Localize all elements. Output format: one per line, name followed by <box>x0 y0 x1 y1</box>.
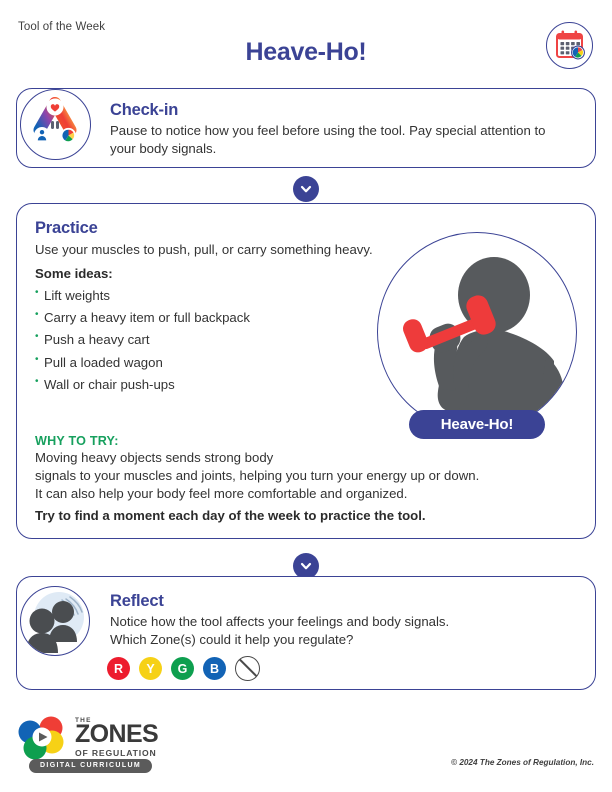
reflect-body-line-2: Which Zone(s) could it help you regulate… <box>110 631 560 649</box>
chevron-down-glyph-1 <box>299 182 313 196</box>
chevron-down-glyph-2 <box>299 559 313 573</box>
illustration-label: Heave-Ho! <box>409 410 545 439</box>
checkin-text-block: Check-in Pause to notice how you feel be… <box>110 101 565 157</box>
copyright-text: © 2024 The Zones of Regulation, Inc. <box>300 758 594 767</box>
no-zone-icon[interactable] <box>235 656 260 681</box>
yellow-zone-letter: Y <box>146 662 154 676</box>
list-item: Wall or chair push-ups <box>35 373 375 395</box>
practice-heading: Practice <box>35 219 375 238</box>
two-people-icon-glyph <box>21 587 88 654</box>
why-to-try-line-3: It can also help your body feel more com… <box>35 485 565 502</box>
yellow-zone-badge[interactable]: Y <box>139 657 162 680</box>
reflect-heading: Reflect <box>110 592 560 611</box>
practice-closing-line: Try to find a moment each day of the wee… <box>35 508 575 523</box>
practice-lead: Use your muscles to push, pull, or carry… <box>35 241 375 259</box>
reflect-body-line-1: Notice how the tool affects your feeling… <box>110 613 560 631</box>
tool-of-the-week-page: Tool of the Week Heave-Ho! <box>0 0 612 792</box>
green-zone-letter: G <box>178 662 188 676</box>
zones-logo: THE ZONES OF REGULATION DIGITAL CURRICUL… <box>18 714 233 772</box>
zones-triangle-icon-glyph <box>21 90 89 158</box>
two-people-icon <box>20 586 90 656</box>
ideas-list: Lift weights Carry a heavy item or full … <box>35 285 375 396</box>
zones-flower-logo-icon <box>18 716 70 760</box>
blue-zone-letter: B <box>210 662 219 676</box>
some-ideas-label: Some ideas: <box>35 266 375 281</box>
green-zone-badge[interactable]: G <box>171 657 194 680</box>
checkin-body: Pause to notice how you feel before usin… <box>110 122 565 157</box>
logo-of-regulation: OF REGULATION <box>75 748 158 758</box>
person-lifting-dumbbell-icon <box>378 233 574 429</box>
practice-illustration: Heave-Ho! <box>377 232 577 432</box>
why-to-try-line-2: signals to your muscles and joints, help… <box>35 467 565 484</box>
calendar-icon <box>546 22 593 69</box>
illustration-circle <box>377 232 577 432</box>
blue-zone-badge[interactable]: B <box>203 657 226 680</box>
calendar-icon-glyph <box>547 23 592 68</box>
list-item: Carry a heavy item or full backpack <box>35 307 375 329</box>
list-item: Push a heavy cart <box>35 329 375 351</box>
why-to-try-block: WHY TO TRY: Moving heavy objects sends s… <box>35 434 565 502</box>
digital-curriculum-badge: DIGITAL CURRICULUM <box>29 759 152 773</box>
practice-text-block: Practice Use your muscles to push, pull,… <box>35 219 375 396</box>
red-zone-badge[interactable]: R <box>107 657 130 680</box>
list-item: Pull a loaded wagon <box>35 351 375 373</box>
zones-logo-wordmark: THE ZONES OF REGULATION <box>75 717 158 758</box>
logo-zones: ZONES <box>75 723 158 747</box>
list-item: Lift weights <box>35 285 375 307</box>
chevron-down-icon-1 <box>293 176 319 202</box>
eyebrow-label: Tool of the Week <box>18 21 105 33</box>
zones-triangle-icon <box>20 89 91 160</box>
checkin-heading: Check-in <box>110 101 565 120</box>
page-title: Heave-Ho! <box>0 38 612 67</box>
zone-badges: R Y G B <box>107 656 260 681</box>
why-to-try-line-1: Moving heavy objects sends strong body <box>35 449 565 466</box>
reflect-text-block: Reflect Notice how the tool affects your… <box>110 592 560 648</box>
page-header: Tool of the Week Heave-Ho! <box>0 0 612 82</box>
red-zone-letter: R <box>114 662 123 676</box>
